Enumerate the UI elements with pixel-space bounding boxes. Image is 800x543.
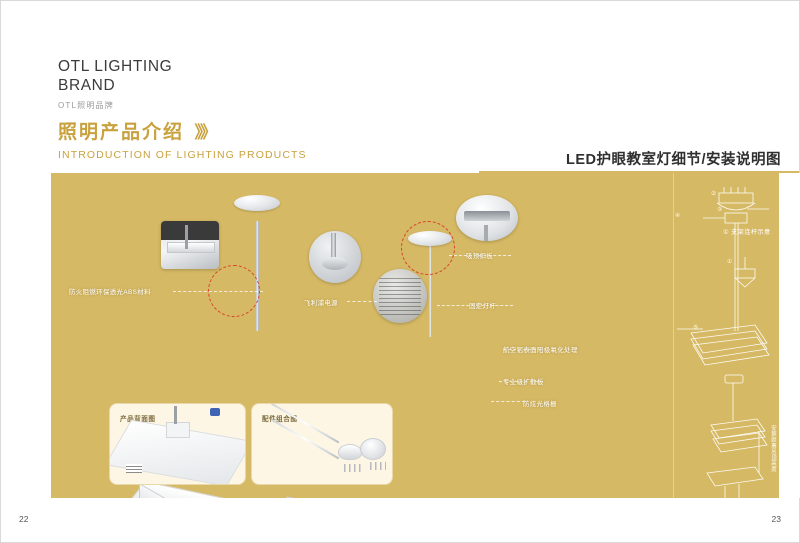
page-title: LED护眼教室灯细节/安装说明图	[566, 148, 781, 169]
brand-name-chinese: OTL照明品牌	[58, 100, 172, 111]
callout-label-diffuser: 专业级扩散板	[503, 377, 544, 386]
marker-3-icon: ③	[717, 207, 722, 213]
detail-photo-rod-joint	[309, 231, 361, 283]
lamp-mount-bracket	[275, 496, 323, 498]
product-showcase-panel: 防火阻燃环保透光ABS材料 飞利浦电源 吸顶扣板 固定灯杆 航空铝表面阳极氧化处…	[51, 173, 800, 498]
callout-label-philips-driver: 飞利浦电源	[304, 298, 338, 307]
callout-label-anti-glare: 防炫光格栅	[523, 399, 557, 408]
marker-1-icon: ①	[727, 259, 732, 265]
page-number-right: 23	[772, 514, 781, 524]
detail-photo-bracket	[161, 221, 219, 269]
leader-line-abs	[173, 291, 263, 292]
leader-line-driver	[347, 301, 377, 302]
inset-product-back-view: 产品背面图	[109, 403, 246, 485]
callout-circle-canopy	[401, 221, 455, 275]
catalog-page-spread: OTL LIGHTING BRAND OTL照明品牌 照明产品介绍 》》 INT…	[0, 0, 800, 543]
callout-label-fixed-rod: 固定灯杆	[469, 301, 496, 310]
leader-line-grille	[491, 401, 525, 402]
callout-label-abs-material: 防火阻燃环保透光ABS材料	[69, 287, 151, 296]
section-heading: 照明产品介绍 》》 INTRODUCTION OF LIGHTING PRODU…	[58, 117, 307, 161]
tech-label-bracket-rod: ① 支架连杆示意	[723, 227, 771, 236]
callout-label-ceiling-plate: 吸顶扣板	[466, 251, 493, 260]
page-number-left: 22	[19, 514, 28, 524]
inset-accessories: 配件组合图	[251, 403, 393, 485]
marker-2-icon: ②	[711, 191, 716, 197]
callout-label-aluminium: 航空铝表面阳极氧化处理	[503, 345, 578, 354]
marker-4-icon: ④	[675, 213, 680, 219]
brand-name-line2: BRAND	[58, 76, 172, 95]
chevrons-icon: 》》	[194, 118, 214, 143]
section-title-chinese: 照明产品介绍	[58, 117, 184, 144]
detail-photo-philips-driver	[373, 269, 427, 323]
marker-5-icon: ⑤	[693, 325, 698, 331]
detail-photo-ceiling-mount	[456, 195, 518, 241]
panel-right-margin	[779, 173, 800, 498]
section-title-english: INTRODUCTION OF LIGHTING PRODUCTS	[58, 149, 307, 161]
tech-label-dimension: 安装距离吊顶高度	[769, 425, 777, 472]
brand-block: OTL LIGHTING BRAND OTL照明品牌	[58, 57, 172, 111]
ceiling-canopy-left	[234, 195, 280, 211]
suspension-rod-left	[256, 221, 259, 331]
brand-name-line1: OTL LIGHTING	[58, 57, 172, 76]
